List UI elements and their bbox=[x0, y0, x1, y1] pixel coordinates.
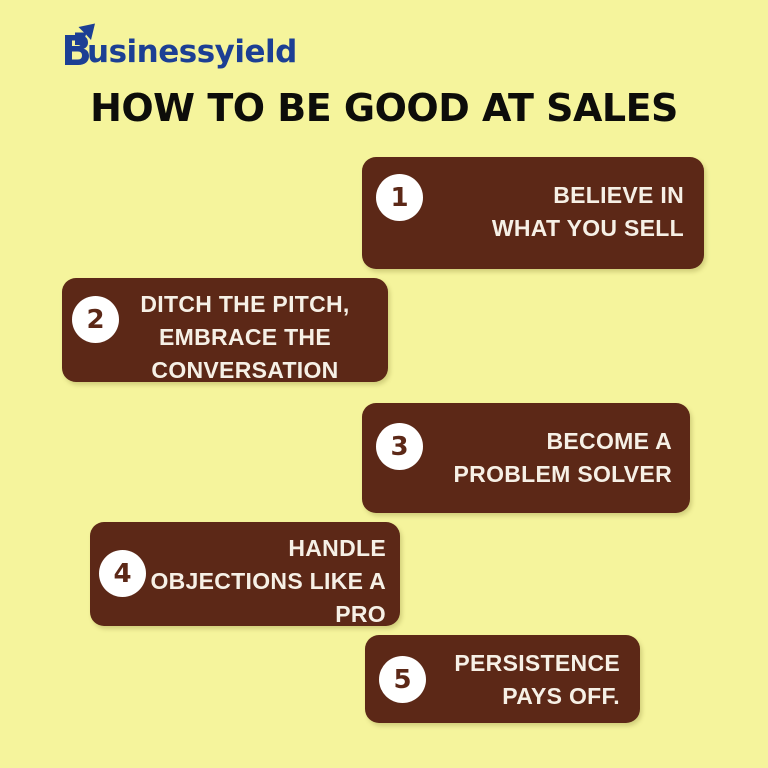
page-title: HOW TO BE GOOD AT SALES bbox=[0, 86, 768, 130]
step-number-badge-3: 3 bbox=[376, 423, 423, 470]
step-card-1[interactable]: 1 BELIEVE IN WHAT YOU SELL bbox=[362, 157, 704, 269]
step-label-4: HANDLE OBJECTIONS LIKE A PRO bbox=[150, 532, 386, 631]
step-label-3: BECOME A PROBLEM SOLVER bbox=[454, 425, 672, 491]
step-card-4[interactable]: 4 HANDLE OBJECTIONS LIKE A PRO bbox=[90, 522, 400, 626]
infographic-canvas: usinessyield HOW TO BE GOOD AT SALES 1 B… bbox=[0, 0, 768, 768]
brand-name: usinessyield bbox=[87, 37, 297, 68]
step-card-2[interactable]: 2 DITCH THE PITCH, EMBRACE THE CONVERSAT… bbox=[62, 278, 388, 382]
step-card-3[interactable]: 3 BECOME A PROBLEM SOLVER bbox=[362, 403, 690, 513]
step-card-5[interactable]: 5 PERSISTENCE PAYS OFF. bbox=[365, 635, 640, 723]
step-number-badge-2: 2 bbox=[72, 296, 119, 343]
step-label-2: DITCH THE PITCH, EMBRACE THE CONVERSATIO… bbox=[120, 288, 370, 387]
brand-logo[interactable]: usinessyield bbox=[62, 20, 297, 72]
step-label-5: PERSISTENCE PAYS OFF. bbox=[454, 647, 620, 713]
step-number-badge-4: 4 bbox=[99, 550, 146, 597]
step-label-1: BELIEVE IN WHAT YOU SELL bbox=[492, 179, 684, 245]
step-number-badge-5: 5 bbox=[379, 656, 426, 703]
step-number-badge-1: 1 bbox=[376, 174, 423, 221]
